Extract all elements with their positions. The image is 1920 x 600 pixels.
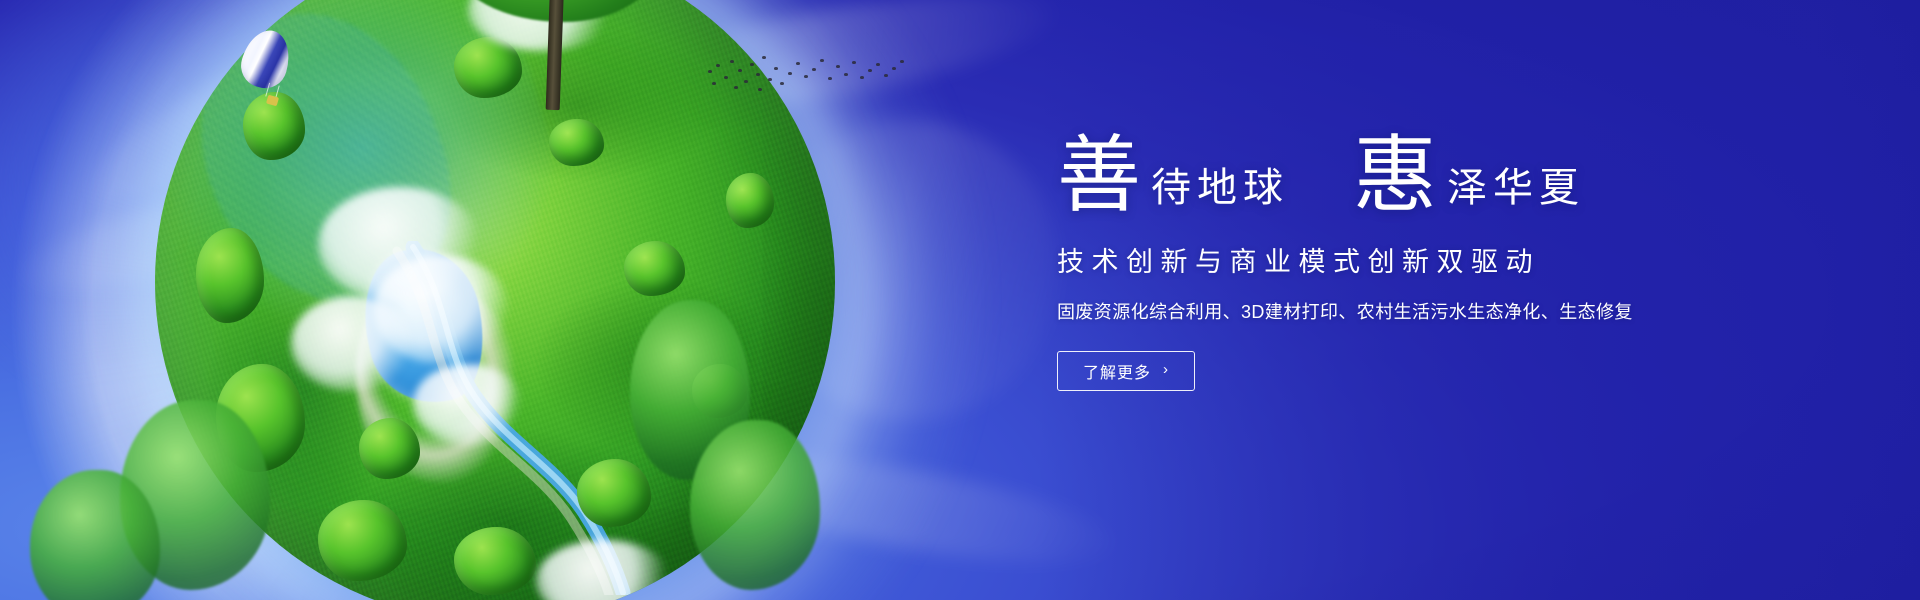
tree-cluster	[454, 527, 536, 595]
headline-group-two: 惠 泽华夏	[1353, 140, 1585, 214]
tree-cluster	[577, 459, 652, 527]
hero-subtitle: 技术创新与商业模式创新双驱动	[1057, 240, 1817, 279]
tree-cluster	[359, 418, 420, 479]
headline-group-one: 善 待地球	[1057, 140, 1289, 214]
balloon-basket	[266, 95, 279, 107]
birds-flock-icon	[700, 42, 910, 102]
foreground-tree	[30, 470, 160, 600]
tree-cluster	[196, 228, 264, 323]
tree-cluster	[549, 119, 603, 167]
headline-rest-one: 待地球	[1141, 168, 1289, 214]
tree-cluster	[726, 173, 774, 227]
learn-more-label: 了解更多	[1083, 359, 1151, 383]
headline-lead-char-one: 善	[1057, 140, 1141, 214]
balloon-envelope	[236, 25, 296, 93]
foreground-tree	[690, 420, 820, 590]
hero-text-panel: 善 待地球 惠 泽华夏 技术创新与商业模式创新双驱动 固废资源化综合利用、3D建…	[1057, 140, 1817, 391]
chevron-right-icon: ›	[1163, 362, 1169, 377]
headline-rest-two: 泽华夏	[1437, 168, 1585, 214]
hot-air-balloon-icon	[243, 30, 289, 114]
tree-cluster	[624, 241, 685, 295]
tree-trunk	[546, 0, 565, 110]
hero-description: 固废资源化综合利用、3D建材打印、农村生活污水生态净化、生态修复	[1057, 298, 1817, 324]
page-title: 善 待地球 惠 泽华夏	[1057, 140, 1817, 214]
hero-banner: 善 待地球 惠 泽华夏 技术创新与商业模式创新双驱动 固废资源化综合利用、3D建…	[0, 0, 1920, 600]
surface-cloud	[536, 540, 672, 600]
headline-lead-char-two: 惠	[1353, 140, 1437, 214]
learn-more-button[interactable]: 了解更多 ›	[1057, 351, 1195, 391]
tree-icon	[454, 0, 658, 105]
tree-cluster	[318, 500, 406, 582]
